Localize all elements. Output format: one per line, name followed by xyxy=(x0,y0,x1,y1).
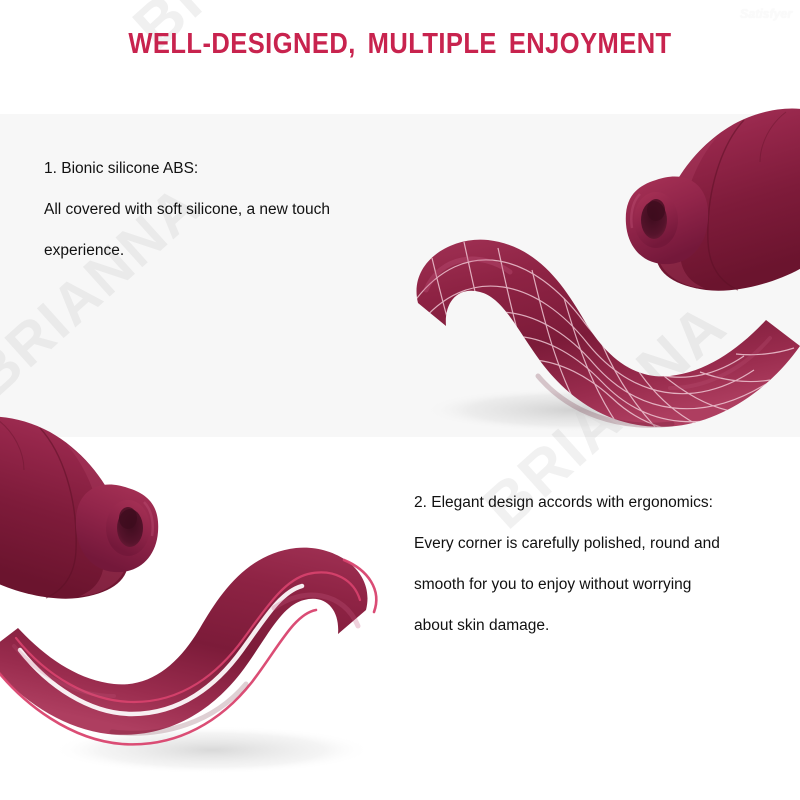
feature-1-text-block: 1. Bionic silicone ABS: All covered with… xyxy=(44,148,406,271)
satisfyer-logo: Satisfyer xyxy=(740,6,792,21)
feature-2-heading: 2. Elegant design accords with ergonomic… xyxy=(414,482,766,523)
feature-2-body-line-2: smooth for you to enjoy without worrying xyxy=(414,564,766,605)
feature-1-body-line-2: experience. xyxy=(44,230,406,271)
feature-2-body-line-1: Every corner is carefully polished, roun… xyxy=(414,523,766,564)
feature-1-body-line-1: All covered with soft silicone, a new to… xyxy=(44,189,406,230)
page-title: WELL-DESIGNED, MULTIPLE ENJOYMENT xyxy=(48,28,752,61)
feature-2-body-line-3: about skin damage. xyxy=(414,605,766,646)
feature-1-heading: 1. Bionic silicone ABS: xyxy=(44,148,406,189)
feature-2-text-block: 2. Elegant design accords with ergonomic… xyxy=(414,482,766,646)
product-feature-page: BRIANNA BRIANNA BRIANNA Satisfyer WELL-D… xyxy=(0,0,800,800)
